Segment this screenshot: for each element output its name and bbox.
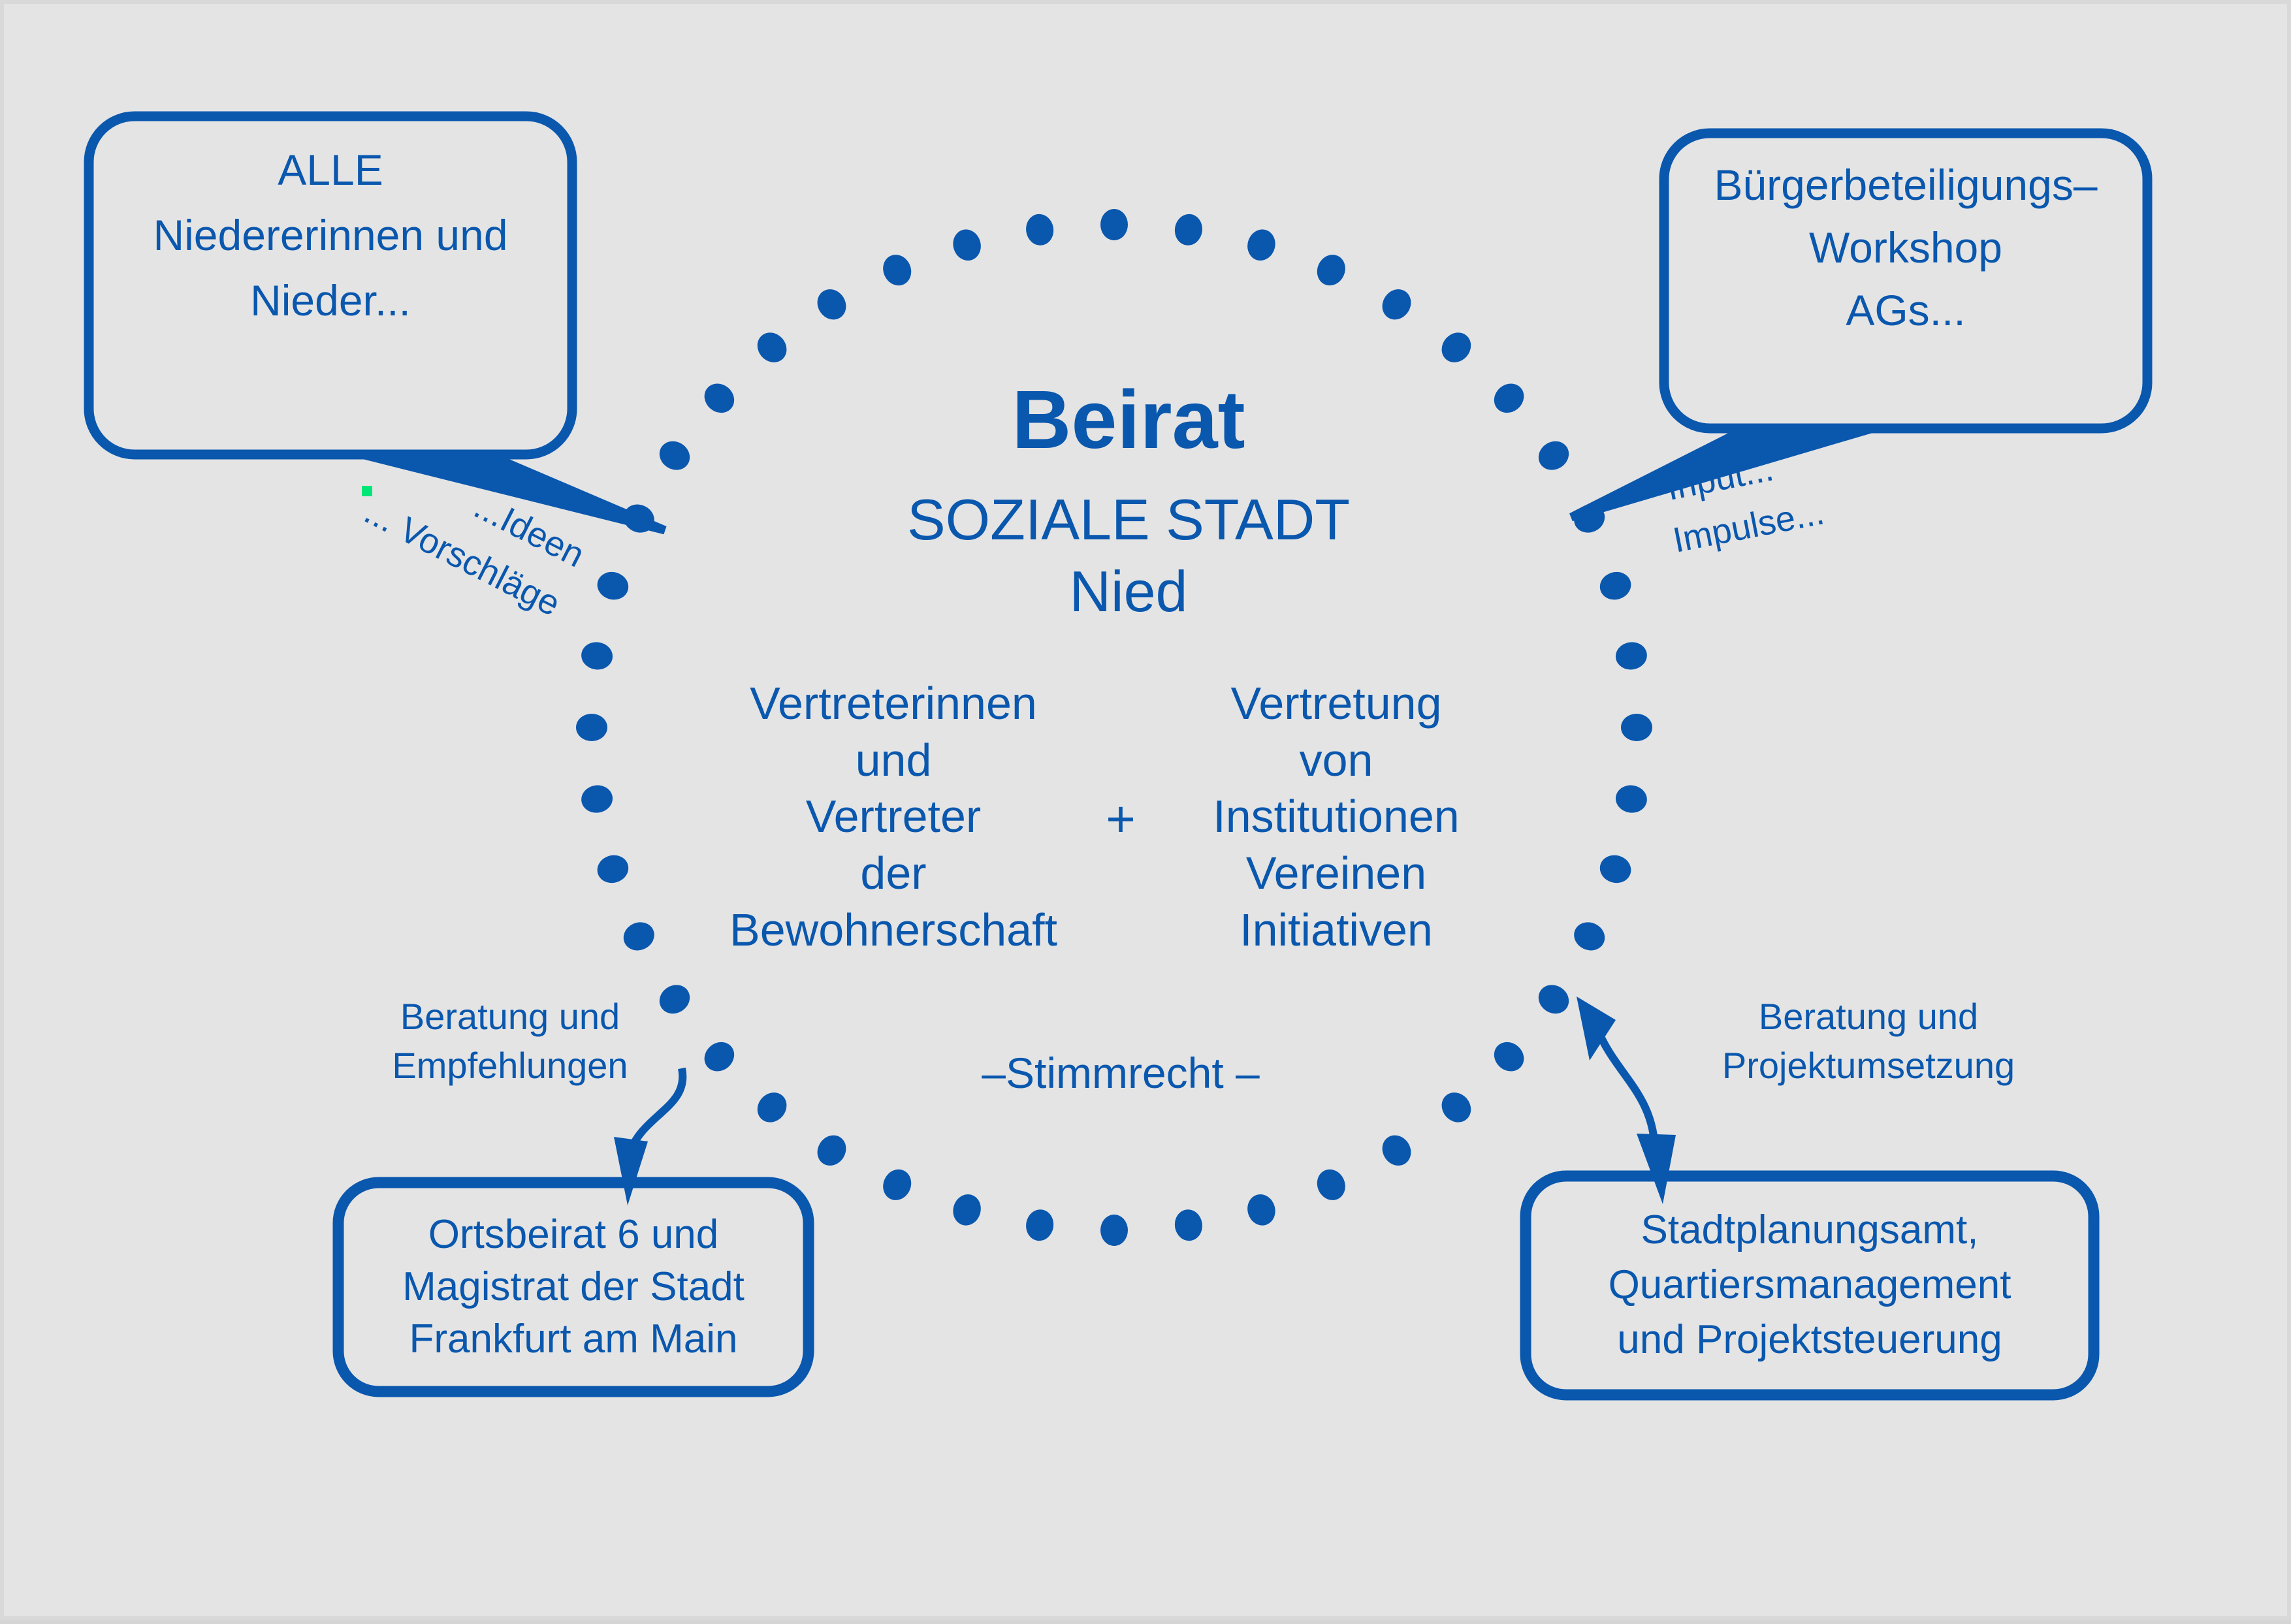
ring-dot [1377,284,1417,325]
arrow-head-right-down [1637,1134,1676,1204]
ring-dot [1435,1087,1477,1128]
ring-dot [812,284,852,325]
ring-dot [1312,1165,1350,1205]
bubble-right-line-2: Workshop [1809,223,2002,272]
left-col-line-1: Vertreterinnen [750,678,1037,729]
ring-dot [1533,436,1574,475]
ring-dot [752,326,793,368]
stimmrecht-note: –Stimmrecht – [982,1049,1260,1097]
box-right-line-2: Quartiersmanagement [1609,1262,2011,1307]
bl-label-line-1: Beratung und [400,996,620,1037]
center-subtitle-2: Nied [1070,559,1188,624]
ring-dot [812,1130,852,1171]
plus-sign: + [1106,790,1136,848]
left-col-line-5: Bewohnerschaft [729,904,1057,955]
center-right-column: Vertretung von Institutionen Vereinen In… [1213,678,1459,955]
ring-dot [752,1087,793,1128]
right-col-line-3: Institutionen [1213,791,1459,842]
ring-dot [950,1191,985,1229]
label-bottom-right: Beratung und Projektumsetzung [1722,996,2015,1086]
box-left-line-2: Magistrat der Stadt [402,1264,745,1309]
ring-dot [594,852,632,887]
bubble-right-line-1: Bürgerbeteiligungs– [1714,161,2097,209]
center-left-column: Vertreterinnen und Vertreter der Bewohne… [729,678,1057,955]
ring-dot [1488,377,1530,419]
bubble-left-line-1: ALLE [278,146,383,194]
center-title: Beirat [1012,374,1245,466]
bubble-right-line-3: AGs... [1846,286,1965,334]
ring-dot [1243,226,1279,264]
ring-dot [699,1036,741,1077]
box-right-line-1: Stadtplanungsamt, [1641,1207,1978,1252]
ring-dot [1173,1207,1204,1242]
box-left-line-1: Ortsbeirat 6 und [428,1212,719,1257]
ring-dot [1614,640,1648,671]
left-col-line-2: und [856,735,932,786]
ring-dot [1597,852,1635,887]
ring-dot [1614,783,1648,814]
ring-dot [654,436,695,475]
bl-label-line-2: Empfehlungen [392,1045,628,1086]
ring-dot [594,568,632,603]
ring-dot [1243,1191,1279,1229]
speech-bubble-top-right[interactable]: Bürgerbeteiligungs– Workshop AGs... [1571,133,2147,517]
br-label-line-2: Projektumsetzung [1722,1045,2015,1086]
ring-dot [950,226,985,264]
right-col-line-1: Vertretung [1231,678,1442,729]
center-subtitle-1: SOZIALE STADT [907,487,1350,552]
box-stadtplanungsamt[interactable]: Stadtplanungsamt, Quartiersmanagement un… [1526,1176,2094,1395]
ring-dot [1597,568,1635,603]
ring-dot [1173,212,1204,247]
green-marker-dot [362,486,372,496]
diagram-canvas: ALLE Niedererinnen und Nieder... Bürgerb… [0,0,2291,1620]
diagram-artwork: ALLE Niedererinnen und Nieder... Bürgerb… [4,4,2291,1624]
ring-dot [1312,250,1350,290]
right-col-line-5: Initiativen [1240,904,1433,955]
ring-dot [1377,1130,1417,1171]
ring-dot [1024,1207,1055,1242]
speech-bubble-top-left[interactable]: ALLE Niedererinnen und Nieder... [89,116,665,530]
bubble-left-line-3: Nieder... [250,276,411,325]
ring-dot [1100,209,1128,240]
left-col-line-4: der [860,848,926,899]
ring-dot [1488,1036,1530,1077]
ring-dot [1024,212,1055,247]
ring-dot [1569,917,1609,955]
ring-dot [1100,1215,1128,1246]
ring-dot [579,783,614,814]
ring-dot [579,640,614,671]
bubble-left-line-2: Niedererinnen und [153,211,507,259]
ring-dot [1621,714,1652,741]
ring-dot [878,250,916,290]
ring-dot [699,377,741,419]
right-col-line-2: von [1300,735,1373,786]
br-label-line-1: Beratung und [1759,996,1978,1037]
ring-dot [1435,326,1477,368]
ring-dot [1533,979,1574,1019]
center-heading-group: Beirat SOZIALE STADT Nied [907,374,1350,624]
box-ortsbeirat[interactable]: Ortsbeirat 6 und Magistrat der Stadt Fra… [338,1183,809,1392]
label-bottom-left: Beratung und Empfehlungen [392,996,628,1086]
box-right-line-3: und Projektsteuerung [1617,1317,2002,1362]
left-col-line-3: Vertreter [806,791,981,842]
right-col-line-4: Vereinen [1246,848,1426,899]
arrow-head-left [614,1137,648,1205]
ring-dot [878,1165,916,1205]
label-right-inflow: Input... Impulse... [1663,449,1827,560]
ring-dot [576,714,607,741]
ring-dot [654,979,695,1019]
box-left-line-3: Frankfurt am Main [409,1316,737,1361]
ring-dot [619,917,659,955]
